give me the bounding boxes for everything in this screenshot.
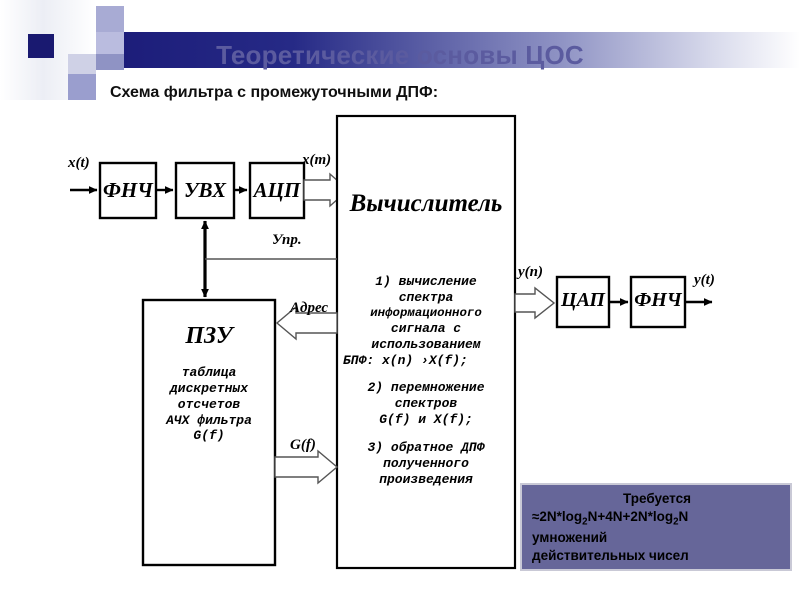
- callout-formula-part-a: ≈2N*log: [532, 509, 582, 524]
- signal-label-y-n: y(n): [518, 264, 543, 281]
- computer-body-line: сигнала с: [337, 321, 515, 337]
- signal-label-control: Упр.: [272, 232, 302, 249]
- signal-label-gf: G(f): [290, 437, 316, 454]
- rom-body-line: отсчетов: [143, 397, 275, 413]
- computer-body-line: полученного: [337, 456, 515, 472]
- callout-line-1: Требуется: [532, 490, 782, 508]
- block-label-lpf-output: ФНЧ: [631, 289, 685, 312]
- arrow-y-n-computer-to-dac: [515, 288, 554, 318]
- computer-body-line: информационного: [337, 306, 515, 321]
- callout-line-4: действительных чисел: [532, 547, 782, 565]
- block-label-adc: АЦП: [250, 178, 304, 203]
- computer-body-spacer: [337, 368, 515, 380]
- arrow-gf-rom-to-computer: [275, 451, 337, 483]
- computer-body-line: использованием: [337, 337, 515, 353]
- computer-body-line: БПФ: x(n) ›X(f);: [337, 353, 515, 369]
- block-label-computer: Вычислитель: [337, 190, 515, 218]
- block-label-dac: ЦАП: [557, 289, 609, 312]
- computer-body-line: спектра: [337, 290, 515, 306]
- block-label-rom: ПЗУ: [143, 323, 275, 350]
- block-label-lpf-input: ФНЧ: [100, 178, 156, 203]
- block-label-sample-hold: УВХ: [176, 178, 234, 203]
- rom-body-text: таблица дискретных отсчетов АЧХ фильтра …: [143, 365, 275, 444]
- computer-body-line: G(f) и X(f);: [337, 412, 515, 428]
- computer-body-line: 2) перемножение: [337, 380, 515, 396]
- computer-body-line: 1) вычисление: [337, 274, 515, 290]
- computer-body-line: спектров: [337, 396, 515, 412]
- rom-body-line: АЧХ фильтра: [143, 413, 275, 429]
- rom-body-line: таблица: [143, 365, 275, 381]
- callout-formula: ≈2N*log2N+4N+2N*log2N: [532, 508, 782, 530]
- rom-body-line: G(f): [143, 428, 275, 444]
- computer-body-line: произведения: [337, 472, 515, 488]
- callout-box: Требуется ≈2N*log2N+4N+2N*log2N умножени…: [520, 483, 792, 571]
- callout-formula-part-c: N: [679, 509, 689, 524]
- signal-label-address: Адрес: [290, 300, 328, 317]
- signal-label-x-t: x(t): [68, 155, 90, 172]
- computer-body-spacer: [337, 428, 515, 440]
- signal-label-y-t: y(t): [694, 272, 715, 289]
- computer-body-line: 3) обратное ДПФ: [337, 440, 515, 456]
- rom-body-line: дискретных: [143, 381, 275, 397]
- signal-label-x-m: x(m): [302, 152, 331, 169]
- callout-line-3: умножений: [532, 529, 782, 547]
- computer-body-text: 1) вычисление спектра информационного си…: [337, 274, 515, 488]
- callout-formula-part-b: N+4N+2N*log: [588, 509, 674, 524]
